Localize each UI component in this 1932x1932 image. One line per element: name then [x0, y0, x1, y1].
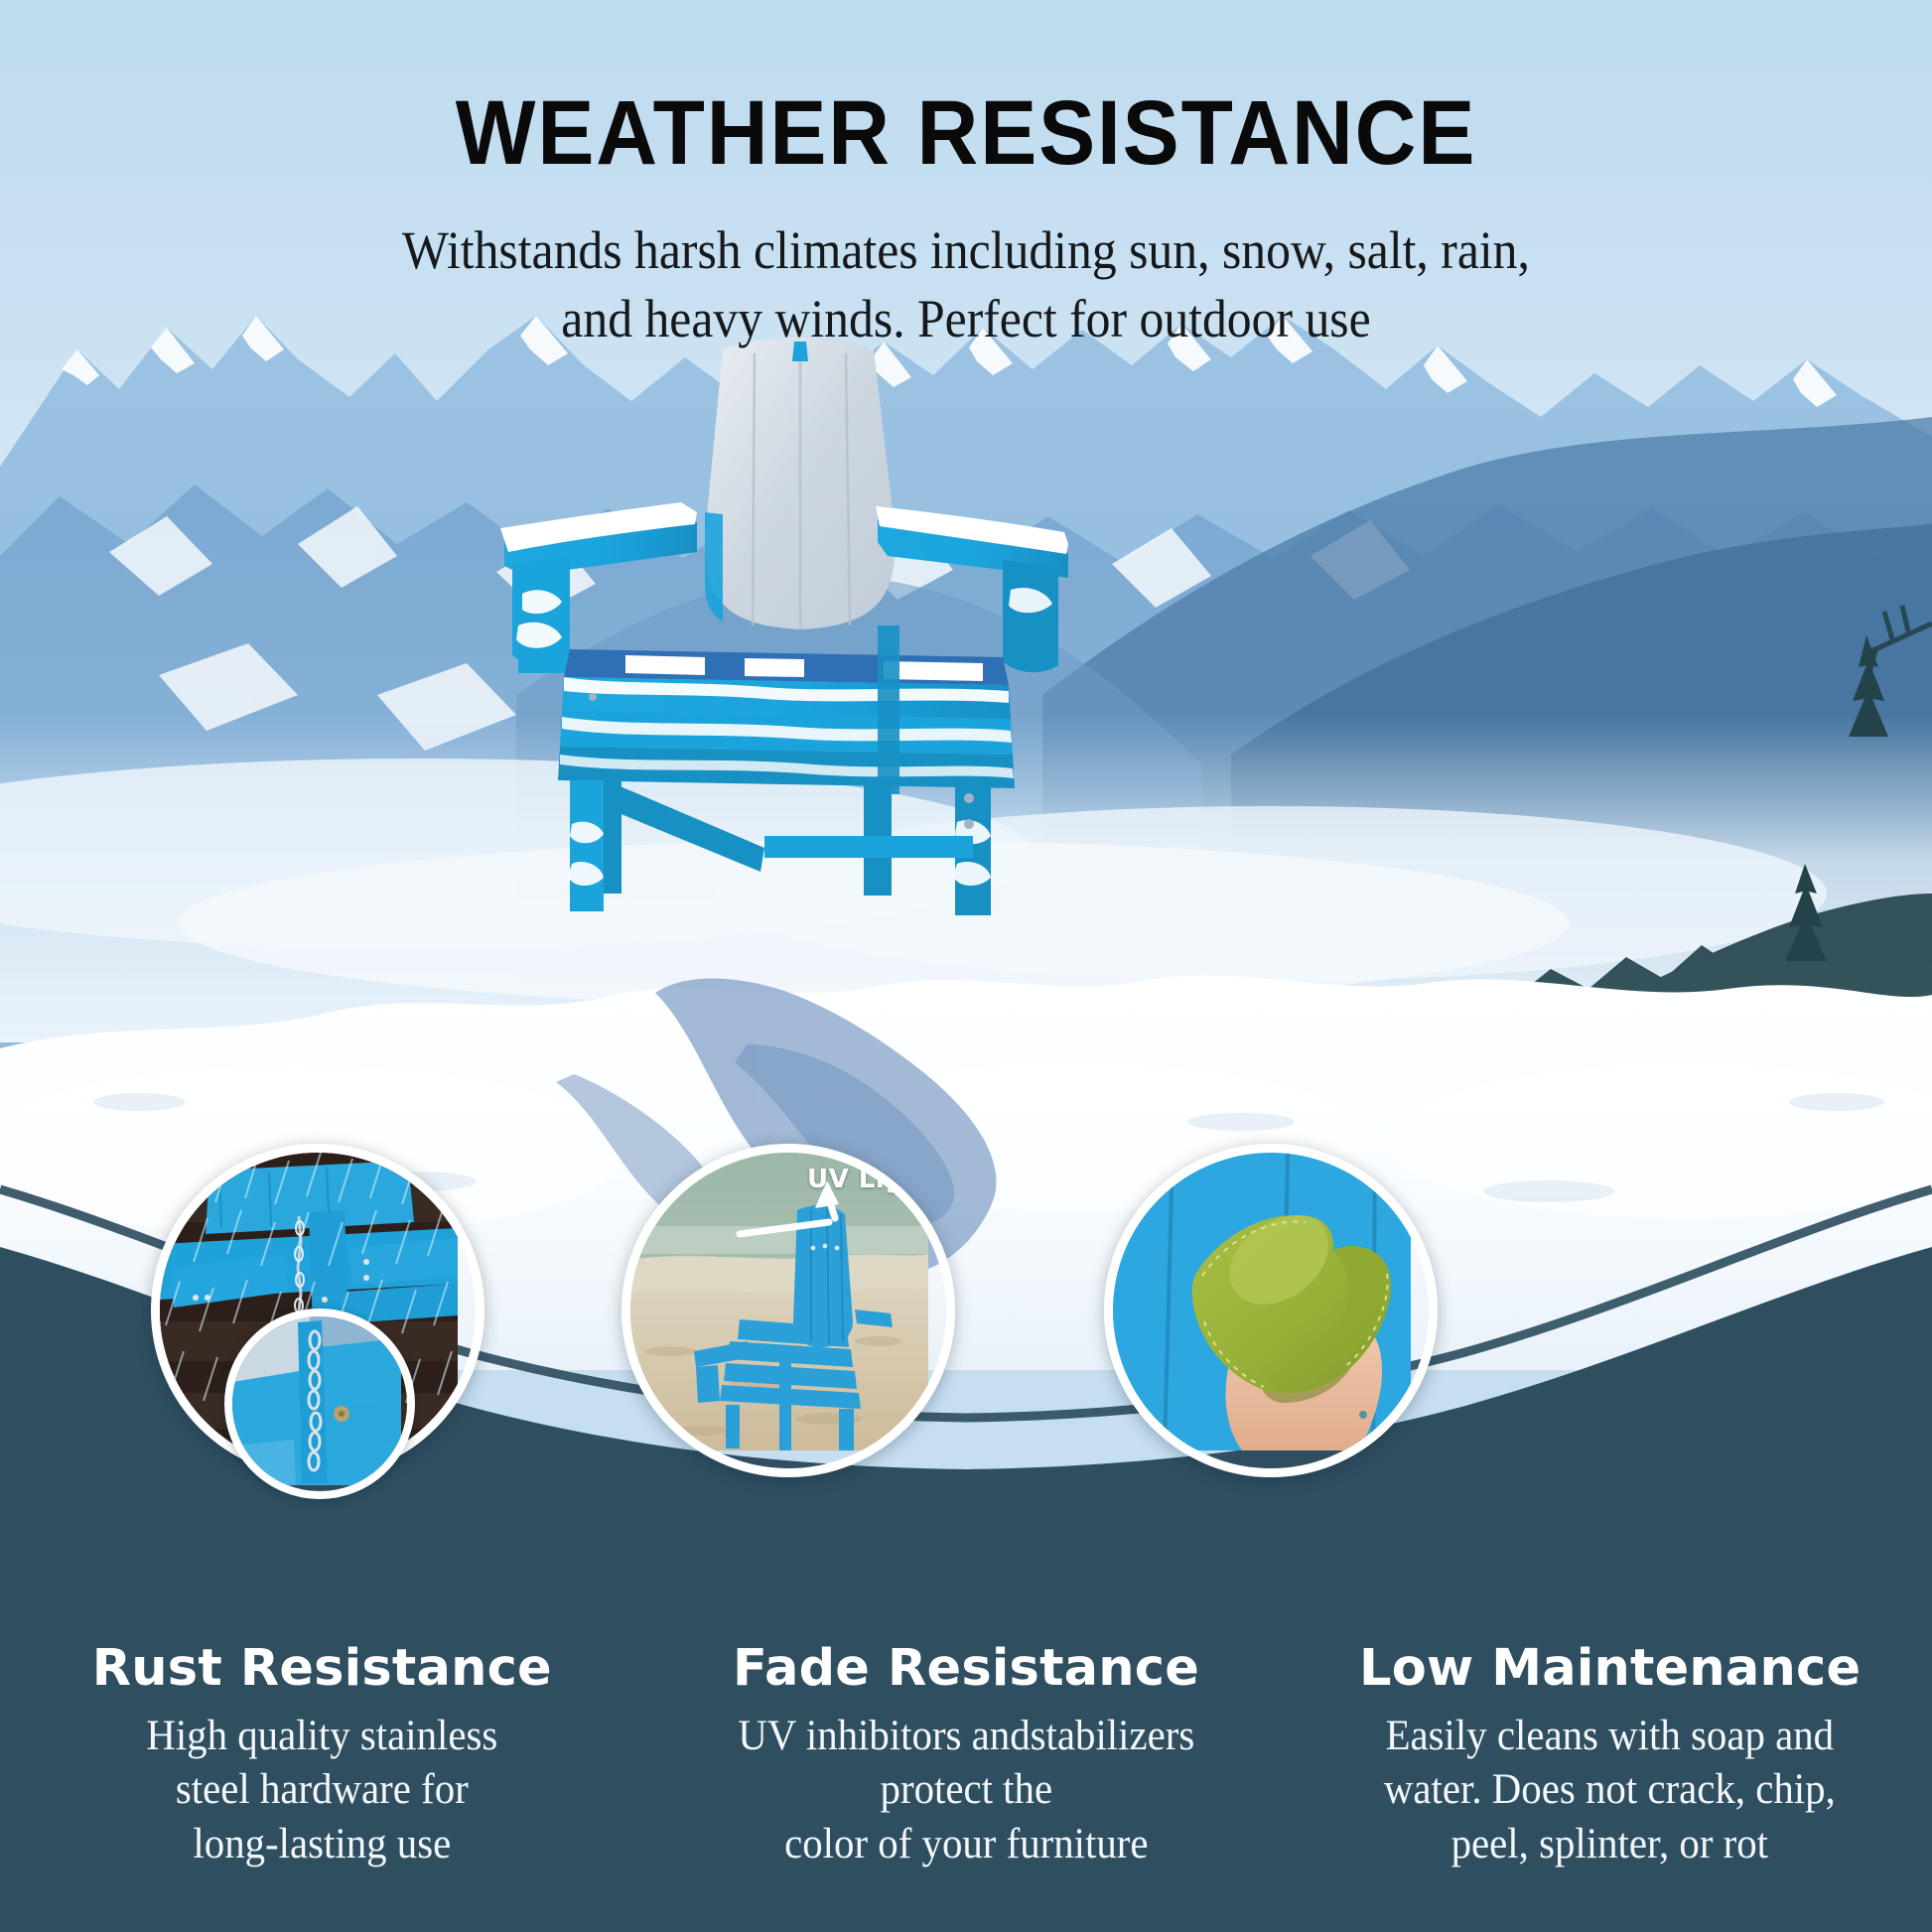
- feature-heading-rust-resistance: Rust Resistance: [26, 1642, 619, 1696]
- uv-light-label: UV Light: [807, 1165, 935, 1194]
- feature-body-line-3: peel, splinter, or rot: [1451, 1821, 1768, 1867]
- feature-body-fade-resistance: UV inhibitors andstabilizers protect the…: [685, 1710, 1248, 1872]
- feature-text-row: Rust Resistance High quality stainless s…: [0, 1642, 1932, 1871]
- feature-body-rust-resistance: High quality stainless steel hardware fo…: [41, 1710, 604, 1872]
- feature-body-line-3: long-lasting use: [193, 1821, 451, 1867]
- feature-inset-chain-detail: [224, 1309, 415, 1499]
- feature-body-line-2: water. Does not crack, chip,: [1384, 1766, 1836, 1813]
- subtitle-line-1: Withstands harsh climates including sun,…: [402, 220, 1530, 280]
- feature-heading-low-maintenance: Low Maintenance: [1313, 1642, 1906, 1696]
- feature-column-fade-resistance: Fade Resistance UV inhibitors andstabili…: [644, 1642, 1289, 1871]
- subtitle-line-2: and heavy winds. Perfect for outdoor use: [561, 289, 1370, 348]
- infographic-canvas: UV Light: [0, 0, 1932, 1932]
- page-subtitle: Withstands harsh climates including sun,…: [77, 179, 1855, 353]
- feature-body-line-3: color of your furniture: [784, 1821, 1148, 1867]
- header-block: WEATHER RESISTANCE Withstands harsh clim…: [0, 0, 1932, 353]
- feature-body-line-1: UV inhibitors andstabilizers: [738, 1713, 1194, 1759]
- feature-image-fade-resistance: UV Light: [621, 1144, 955, 1477]
- feature-heading-fade-resistance: Fade Resistance: [670, 1642, 1263, 1696]
- feature-column-rust-resistance: Rust Resistance High quality stainless s…: [0, 1642, 644, 1871]
- feature-image-low-maintenance: [1104, 1144, 1438, 1477]
- feature-body-line-1: Easily cleans with soap and: [1386, 1713, 1835, 1759]
- feature-column-low-maintenance: Low Maintenance Easily cleans with soap …: [1288, 1642, 1932, 1871]
- feature-body-line-1: High quality stainless: [146, 1713, 497, 1759]
- feature-body-line-2: protect the: [880, 1766, 1052, 1813]
- feature-body-line-2: steel hardware for: [176, 1766, 469, 1813]
- adirondack-chair: [467, 328, 1102, 943]
- page-title: WEATHER RESISTANCE: [68, 0, 1864, 179]
- feature-body-low-maintenance: Easily cleans with soap and water. Does …: [1328, 1710, 1891, 1872]
